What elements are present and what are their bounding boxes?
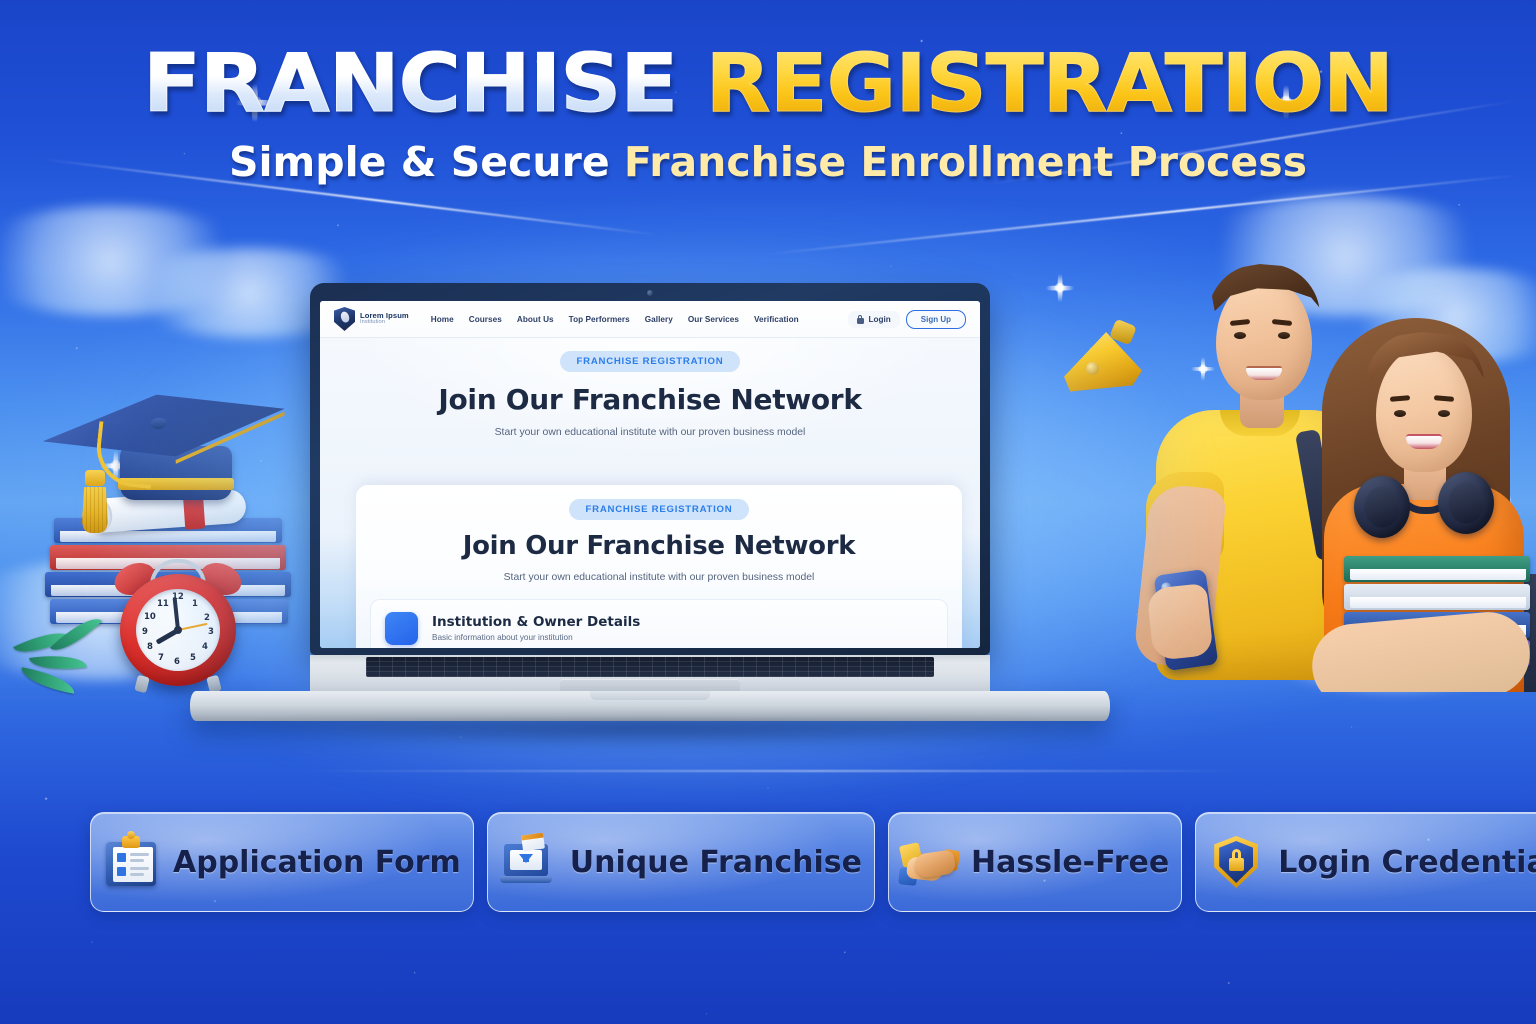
feature-label: Login Credentials	[1278, 845, 1536, 880]
site-nav-actions: Login Sign Up	[848, 310, 967, 329]
page-title: FRANCHISE REGISTRATION	[0, 44, 1536, 124]
laptop-screen: Lorem Ipsum Institution Home Courses Abo…	[320, 301, 980, 648]
banner-header: FRANCHISE REGISTRATION Simple & Secure F…	[0, 0, 1536, 186]
feature-login-credentials[interactable]: Login Credentials	[1195, 812, 1536, 912]
step-title: Institution & Owner Details	[432, 614, 640, 630]
banner-canvas: FRANCHISE REGISTRATION Simple & Secure F…	[0, 0, 1536, 1024]
handshake-icon	[901, 834, 957, 890]
laptop-upload-icon	[500, 834, 556, 890]
leaf-shape	[19, 667, 77, 693]
institution-icon	[385, 612, 418, 645]
feature-bar: Application Form Unique Franchise Hassle…	[90, 812, 1446, 912]
light-streak	[300, 770, 1240, 772]
eye	[1394, 410, 1406, 417]
nav-item-top-performers[interactable]: Top Performers	[569, 315, 630, 324]
feature-label: Hassle-Free	[971, 845, 1169, 880]
feature-hassle-free[interactable]: Hassle-Free	[888, 812, 1182, 912]
feature-unique-franchise[interactable]: Unique Franchise	[487, 812, 875, 912]
laptop-mockup: Lorem Ipsum Institution Home Courses Abo…	[190, 283, 1110, 727]
clipboard-form-icon	[103, 834, 159, 890]
site-hero-section: FRANCHISE REGISTRATION Join Our Franchis…	[320, 338, 980, 648]
female-student	[1298, 288, 1536, 692]
logo-text: Lorem Ipsum Institution	[360, 312, 409, 326]
smile	[1406, 434, 1442, 449]
site-nav-links: Home Courses About Us Top Performers Gal…	[431, 315, 799, 324]
eyebrow	[1230, 319, 1250, 326]
nav-item-verification[interactable]: Verification	[754, 315, 799, 324]
hand	[1146, 583, 1213, 661]
login-button[interactable]: Login	[848, 311, 900, 328]
headphones-icon	[1354, 476, 1410, 538]
registration-card: FRANCHISE REGISTRATION Join Our Franchis…	[356, 485, 962, 648]
step-text: Institution & Owner Details Basic inform…	[432, 614, 640, 642]
eye	[1438, 410, 1450, 417]
clock-number: 9	[142, 627, 148, 637]
subtitle-part-two: Franchise Enrollment Process	[624, 138, 1307, 186]
feature-label: Unique Franchise	[570, 845, 862, 880]
clock-number: 8	[147, 642, 153, 652]
clock-number: 6	[174, 657, 180, 667]
page-subtitle: Simple & Secure Franchise Enrollment Pro…	[0, 138, 1536, 186]
clock-number: 11	[157, 599, 169, 609]
held-book-item	[1344, 584, 1530, 610]
keyboard[interactable]	[366, 657, 934, 677]
card-badge: FRANCHISE REGISTRATION	[569, 499, 750, 520]
step-description: Basic information about your institution	[432, 633, 640, 642]
leaf-decoration	[14, 624, 134, 694]
nav-item-gallery[interactable]: Gallery	[645, 315, 673, 324]
clock-number: 7	[158, 653, 164, 663]
nav-item-home[interactable]: Home	[431, 315, 454, 324]
headphones-icon	[1438, 472, 1494, 534]
title-word-franchise: FRANCHISE	[143, 37, 677, 130]
laptop-lid: Lorem Ipsum Institution Home Courses Abo…	[310, 283, 990, 655]
eyebrow	[1390, 395, 1410, 402]
nav-item-courses[interactable]: Courses	[469, 315, 502, 324]
hero-subheading: Start your own educational institute wit…	[320, 427, 980, 438]
form-step-institution-owner-details[interactable]: Institution & Owner Details Basic inform…	[370, 599, 948, 648]
eyebrow	[1272, 319, 1292, 326]
nav-item-our-services[interactable]: Our Services	[688, 315, 739, 324]
webcam-icon	[647, 290, 653, 296]
site-logo[interactable]: Lorem Ipsum Institution	[334, 307, 409, 331]
laptop-base	[190, 655, 1110, 727]
laptop-shadow	[250, 723, 1050, 747]
clock-number: 10	[144, 612, 156, 622]
title-word-registration: REGISTRATION	[706, 37, 1393, 130]
hero-badge: FRANCHISE REGISTRATION	[560, 351, 741, 372]
eye	[1234, 332, 1246, 339]
card-subheading: Start your own educational institute wit…	[356, 572, 962, 583]
logo-subtitle: Institution	[360, 320, 409, 326]
students-illustration	[1036, 222, 1536, 692]
lock-icon	[857, 315, 864, 324]
cap-tassel	[82, 470, 108, 532]
feature-application-form[interactable]: Application Form	[90, 812, 474, 912]
signup-button[interactable]: Sign Up	[906, 310, 966, 329]
female-student-face	[1376, 348, 1472, 472]
clock-foot	[134, 675, 150, 693]
laptop-front-notch	[590, 691, 710, 700]
held-book-item	[1344, 556, 1530, 582]
shield-logo-icon	[334, 307, 355, 331]
eye	[1278, 332, 1290, 339]
hero-block: FRANCHISE REGISTRATION Join Our Franchis…	[320, 338, 980, 438]
eyebrow	[1434, 395, 1454, 402]
subtitle-part-one: Simple & Secure	[229, 138, 610, 186]
clock-center-pin	[174, 626, 182, 634]
feature-label: Application Form	[173, 845, 461, 880]
site-navbar: Lorem Ipsum Institution Home Courses Abo…	[320, 301, 980, 338]
smile	[1246, 366, 1282, 380]
hero-heading: Join Our Franchise Network	[320, 383, 980, 416]
login-label: Login	[869, 315, 891, 324]
shield-lock-icon	[1208, 834, 1264, 890]
nav-item-about-us[interactable]: About Us	[517, 315, 554, 324]
card-heading: Join Our Franchise Network	[356, 531, 962, 561]
